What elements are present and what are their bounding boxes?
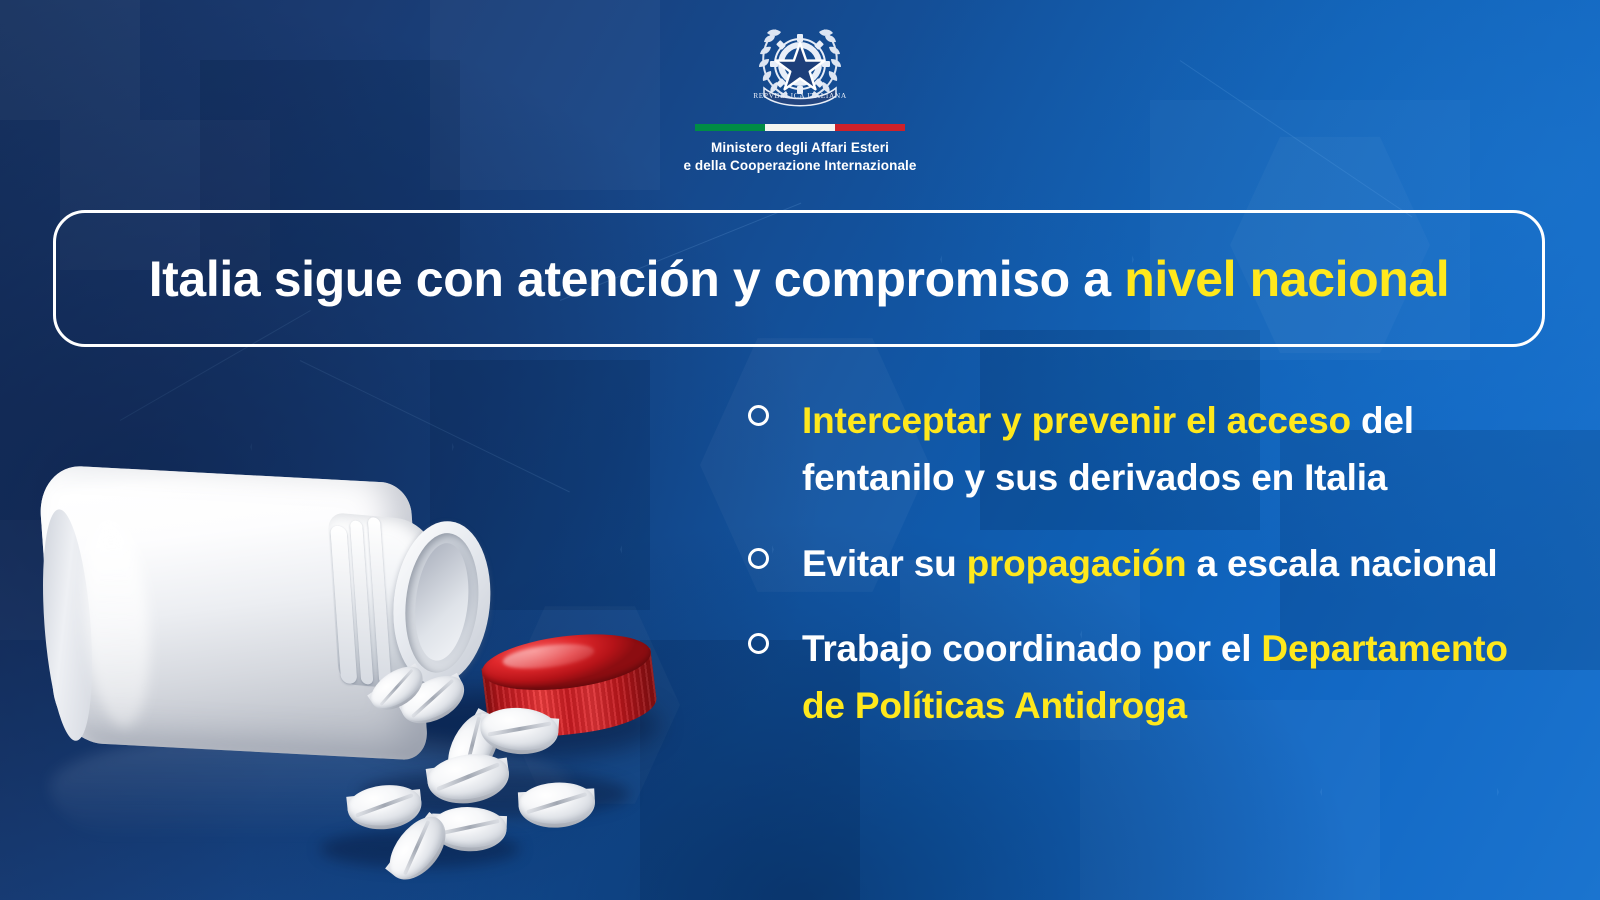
- title-highlight-part: nivel nacional: [1124, 251, 1449, 307]
- ministry-header: REPVBBLICA ITALIANA Ministero degli Affa…: [0, 14, 1600, 175]
- page-title: Italia sigue con atención y compromiso a…: [82, 250, 1516, 308]
- flag-band-red: [835, 124, 905, 131]
- list-item: Interceptar y prevenir el acceso del fen…: [748, 392, 1538, 507]
- key-points-list: Interceptar y prevenir el acceso del fen…: [748, 392, 1538, 763]
- circle-outline-icon: [748, 633, 769, 654]
- list-item-text: Evitar su propagación a escala nacional: [802, 535, 1498, 592]
- list-item-text: Trabajo coordinado por el Departamento d…: [802, 620, 1538, 735]
- ministry-line-1: Ministero degli Affari Esteri: [683, 139, 916, 157]
- ministry-line-2: e della Cooperazione Internazionale: [683, 157, 916, 175]
- list-item: Evitar su propagación a escala nacional: [748, 535, 1538, 592]
- bullet-2-segment-3: a escala nacional: [1186, 543, 1497, 584]
- title-plain-part: Italia sigue con atención y compromiso a: [149, 251, 1125, 307]
- bullet-2-segment-1: Evitar su: [802, 543, 967, 584]
- tablet: [517, 781, 596, 838]
- italian-flag-bar: [695, 124, 905, 131]
- bullet-1-segment-1: Interceptar y prevenir el acceso: [802, 400, 1351, 441]
- emblem-ribbon-text: REPVBBLICA ITALIANA: [753, 91, 847, 100]
- ministry-name: Ministero degli Affari Esteri e della Co…: [683, 139, 916, 175]
- bullet-3-segment-1: Trabajo coordinado por el: [802, 628, 1261, 669]
- circle-outline-icon: [748, 548, 769, 569]
- list-item: Trabajo coordinado por el Departamento d…: [748, 620, 1538, 735]
- spilled-pill-bottle-illustration: [30, 440, 710, 880]
- list-item-text: Interceptar y prevenir el acceso del fen…: [802, 392, 1538, 507]
- flag-band-green: [695, 124, 765, 131]
- bullet-2-segment-2: propagación: [967, 543, 1187, 584]
- pill-bottle: [38, 444, 528, 776]
- title-banner: Italia sigue con atención y compromiso a…: [53, 210, 1545, 347]
- italian-republic-emblem: REPVBBLICA ITALIANA: [748, 14, 852, 114]
- flag-band-white: [765, 124, 835, 131]
- circle-outline-icon: [748, 405, 769, 426]
- slide-canvas: REPVBBLICA ITALIANA Ministero degli Affa…: [0, 0, 1600, 900]
